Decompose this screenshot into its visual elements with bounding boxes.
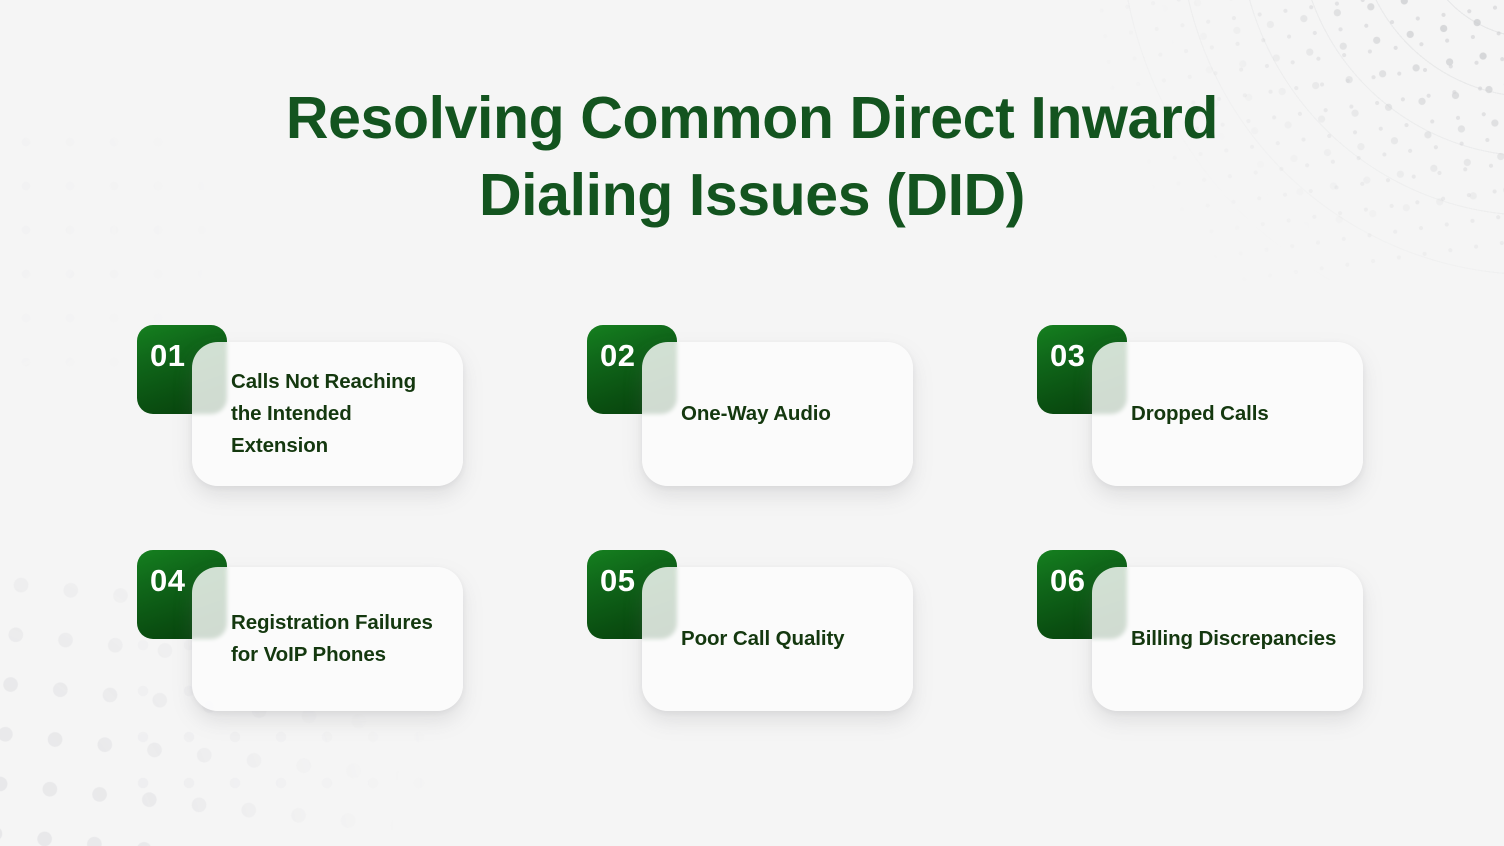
issue-label-05: Poor Call Quality bbox=[642, 623, 858, 655]
issue-card-05[interactable]: Poor Call Quality bbox=[642, 567, 913, 711]
issue-item-01[interactable]: 01 Calls Not Reaching the Intended Exten… bbox=[125, 318, 455, 503]
issue-label-06: Billing Discrepancies bbox=[1092, 623, 1350, 655]
page-title-line-1: Resolving Common Direct Inward bbox=[0, 80, 1504, 157]
issue-card-06[interactable]: Billing Discrepancies bbox=[1092, 567, 1363, 711]
page-title-line-2: Dialing Issues (DID) bbox=[0, 157, 1504, 234]
issue-number-06: 06 bbox=[1050, 565, 1085, 596]
issue-item-05[interactable]: 05 Poor Call Quality bbox=[575, 543, 905, 728]
issue-card-03[interactable]: Dropped Calls bbox=[1092, 342, 1363, 486]
page-title: Resolving Common Direct Inward Dialing I… bbox=[0, 80, 1504, 234]
issue-row-2: 04 Registration Failures for VoIP Phones… bbox=[0, 543, 1504, 768]
issue-card-02[interactable]: One-Way Audio bbox=[642, 342, 913, 486]
issue-number-04: 04 bbox=[150, 565, 185, 596]
issue-row-1: 01 Calls Not Reaching the Intended Exten… bbox=[0, 318, 1504, 543]
issue-item-03[interactable]: 03 Dropped Calls bbox=[1025, 318, 1355, 503]
issue-number-03: 03 bbox=[1050, 340, 1085, 371]
issue-item-06[interactable]: 06 Billing Discrepancies bbox=[1025, 543, 1355, 728]
issue-card-04[interactable]: Registration Failures for VoIP Phones bbox=[192, 567, 463, 711]
issue-number-01: 01 bbox=[150, 340, 185, 371]
issue-item-04[interactable]: 04 Registration Failures for VoIP Phones bbox=[125, 543, 455, 728]
issue-label-01: Calls Not Reaching the Intended Extensio… bbox=[192, 366, 463, 462]
issue-item-02[interactable]: 02 One-Way Audio bbox=[575, 318, 905, 503]
issue-label-03: Dropped Calls bbox=[1092, 398, 1283, 430]
issue-label-02: One-Way Audio bbox=[642, 398, 845, 430]
issue-card-grid: 01 Calls Not Reaching the Intended Exten… bbox=[0, 318, 1504, 768]
issue-label-04: Registration Failures for VoIP Phones bbox=[192, 607, 463, 671]
issue-number-02: 02 bbox=[600, 340, 635, 371]
issue-number-05: 05 bbox=[600, 565, 635, 596]
issue-card-01[interactable]: Calls Not Reaching the Intended Extensio… bbox=[192, 342, 463, 486]
